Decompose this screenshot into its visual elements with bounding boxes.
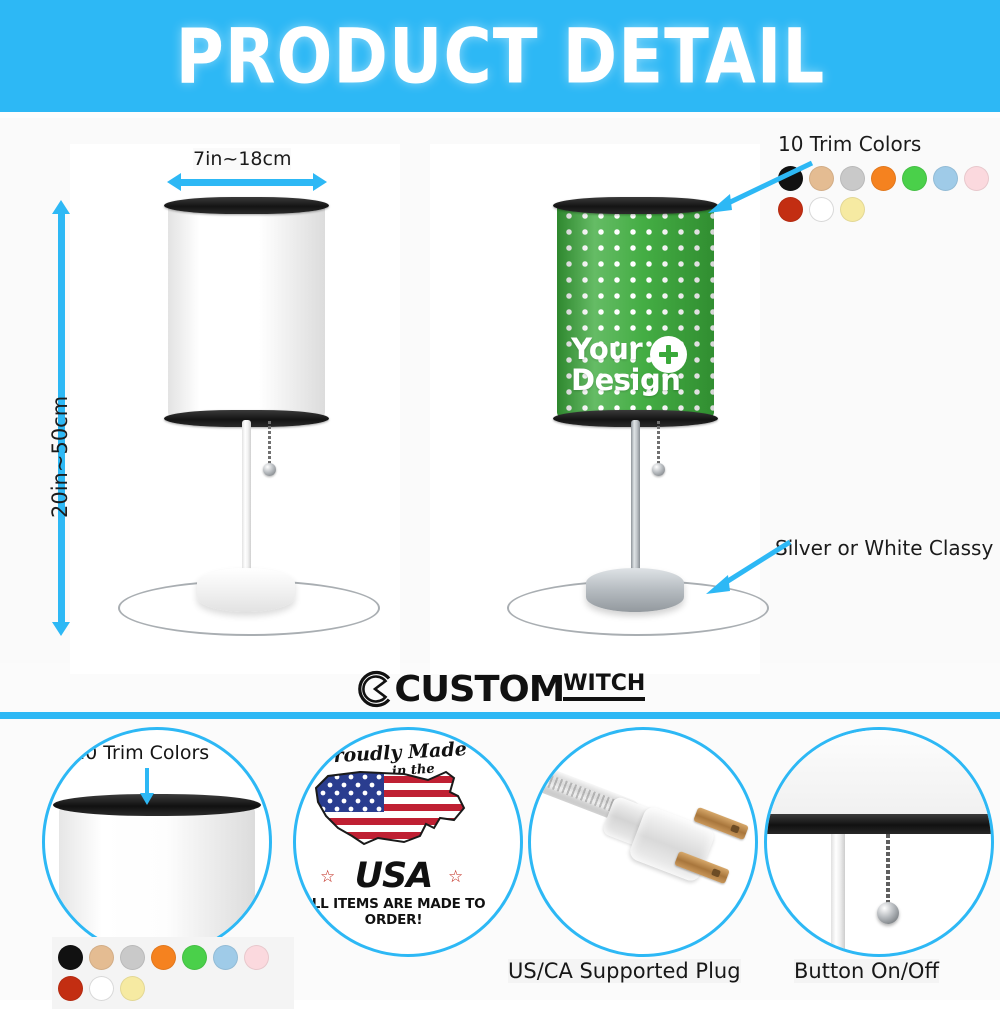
- trim-swatch-white[interactable]: [89, 976, 114, 1001]
- button-caption: Button On/Off: [794, 959, 939, 983]
- feature-circle-button: [764, 727, 994, 957]
- trim-swatch-pink[interactable]: [964, 166, 989, 191]
- logo-secondary-wrap: WITCH: [563, 673, 645, 701]
- product-stage: 7in~18cm 20in~50cm: [0, 118, 1000, 663]
- shade-surface: [168, 203, 325, 418]
- trim-colors-illustration: 10 Trim Colors: [45, 730, 269, 954]
- logo-underline: [563, 697, 645, 701]
- base-finish-label: Silver or White Classy: [775, 536, 993, 560]
- pull-chain-ball[interactable]: [652, 463, 665, 476]
- plus-badge-icon: [650, 336, 687, 373]
- logo-secondary-text: WITCH: [563, 673, 645, 695]
- page-banner: PRODUCT DETAIL: [0, 0, 1000, 112]
- lamp-base-silver: [586, 568, 684, 612]
- shade-trim-top: [164, 197, 329, 214]
- feature-row: 10 Trim Colors Proudly Made in the: [0, 719, 1000, 1000]
- trim-swatch-green[interactable]: [902, 166, 927, 191]
- usa-sub-text: ALL ITEMS ARE MADE TO ORDER!: [296, 896, 491, 928]
- width-dimension-label: 7in~18cm: [193, 148, 291, 170]
- pull-chain[interactable]: [268, 421, 271, 465]
- shade-trim-top: [553, 197, 718, 214]
- plug-illustration: [531, 730, 755, 954]
- pull-chain[interactable]: [657, 421, 660, 465]
- feature-circle-made-in-usa: Proudly Made in the: [293, 727, 523, 957]
- usa-map-flag-icon: [308, 762, 478, 854]
- feature-circle-plug: [528, 727, 758, 957]
- trim-colors-swatches-bottom[interactable]: [52, 937, 294, 1009]
- trim-swatch-orange[interactable]: [871, 166, 896, 191]
- trim-swatch-gray[interactable]: [120, 945, 145, 970]
- trim-swatch-pink[interactable]: [244, 945, 269, 970]
- trim-colors-inner-label: 10 Trim Colors: [73, 742, 209, 764]
- pull-chain-ball[interactable]: [877, 902, 899, 924]
- feature-circle-trim-colors: 10 Trim Colors: [42, 727, 272, 957]
- trim-swatch-light-blue[interactable]: [213, 945, 238, 970]
- logo-primary-text: CUSTOM: [394, 669, 564, 710]
- page-title: PRODUCT DETAIL: [175, 11, 825, 100]
- usa-star-right-icon: ☆: [448, 867, 463, 887]
- divider-strip: [0, 712, 1000, 719]
- trim-swatch-yellow[interactable]: [840, 197, 865, 222]
- trim-pointer-arrow: [700, 158, 820, 218]
- lamp-pole: [831, 834, 845, 957]
- pull-chain[interactable]: [886, 834, 890, 906]
- shade-trim-bottom: [764, 814, 994, 834]
- button-illustration: [767, 730, 991, 954]
- trim-swatch-gray[interactable]: [840, 166, 865, 191]
- trim-swatch-red[interactable]: [58, 976, 83, 1001]
- lamp-shade-green: Your Design: [557, 203, 714, 418]
- lamp-shade-white: [168, 203, 325, 418]
- height-dimension-label: 20in~50cm: [48, 396, 72, 518]
- base-finish-pointer-arrow: [690, 536, 800, 606]
- trim-swatch-green[interactable]: [182, 945, 207, 970]
- trim-colors-heading: 10 Trim Colors: [778, 132, 921, 156]
- trim-colors-inner-arrow: [145, 768, 149, 794]
- usa-badge: Proudly Made in the: [296, 730, 520, 954]
- trim-swatch-orange[interactable]: [151, 945, 176, 970]
- trim-swatch-black[interactable]: [58, 945, 83, 970]
- width-dimension-arrow: [180, 179, 314, 186]
- trim-swatch-light-blue[interactable]: [933, 166, 958, 191]
- pull-chain-ball[interactable]: [263, 463, 276, 476]
- plug-caption: US/CA Supported Plug: [508, 959, 741, 983]
- shade-surface: [764, 727, 994, 816]
- lamp-base-white: [197, 568, 295, 612]
- logo-c-icon: [355, 669, 395, 709]
- shade-trim-top: [53, 794, 261, 816]
- trim-swatch-tan[interactable]: [89, 945, 114, 970]
- product-detail-page: PRODUCT DETAIL 7in~18cm 20in~50cm: [0, 0, 1000, 1000]
- trim-swatch-yellow[interactable]: [120, 976, 145, 1001]
- brand-logo: CUSTOM WITCH: [0, 663, 1000, 715]
- shade-surface: [59, 804, 255, 954]
